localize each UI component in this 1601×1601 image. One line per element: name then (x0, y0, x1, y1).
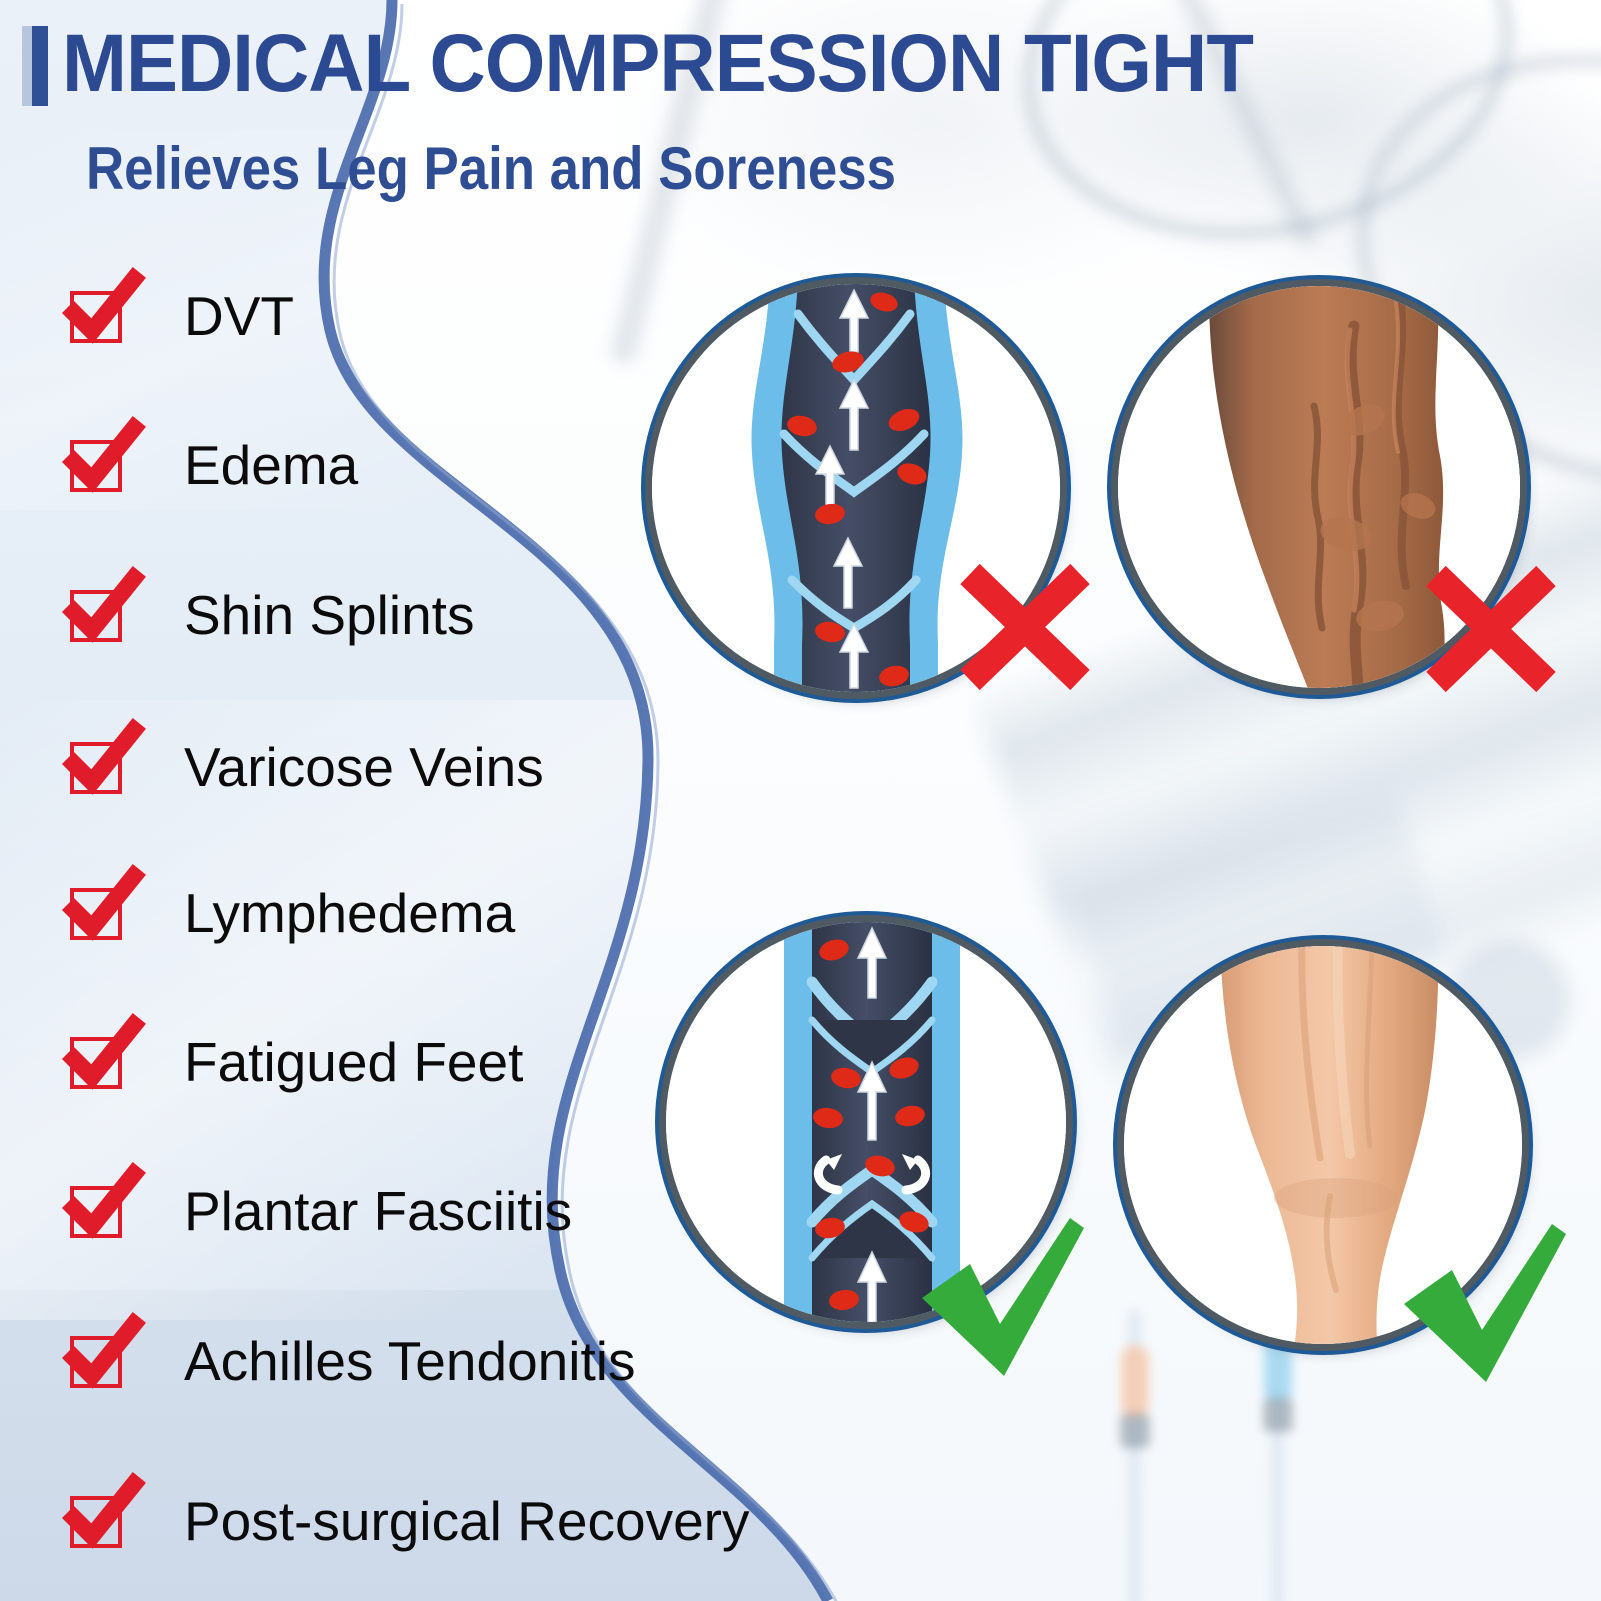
checkbox-checked-icon (66, 1490, 128, 1552)
list-item-label: Plantar Fasciitis (184, 1182, 572, 1240)
list-item-label: DVT (184, 287, 294, 345)
list-item: Achilles Tendonitis (66, 1330, 635, 1392)
list-item-label: Post-surgical Recovery (184, 1492, 749, 1550)
checkbox-checked-icon (66, 1330, 128, 1392)
checkbox-checked-icon (66, 584, 128, 646)
list-item-label: Fatigued Feet (184, 1033, 523, 1091)
list-item-label: Shin Splints (184, 586, 474, 644)
cross-mark-icon (1416, 562, 1566, 712)
infographic-canvas: MEDICAL COMPRESSION TIGHT Relieves Leg P… (0, 0, 1601, 1601)
list-item: Fatigued Feet (66, 1031, 523, 1093)
list-item-label: Achilles Tendonitis (184, 1332, 635, 1390)
list-item: Edema (66, 434, 358, 496)
list-item: Varicose Veins (66, 736, 544, 798)
checkbox-checked-icon (66, 285, 128, 347)
list-item: Lymphedema (66, 882, 515, 944)
list-item: Shin Splints (66, 584, 474, 646)
cross-mark-icon (950, 560, 1100, 710)
list-item-label: Varicose Veins (184, 738, 544, 796)
list-item: Plantar Fasciitis (66, 1180, 572, 1242)
list-item: Post-surgical Recovery (66, 1490, 749, 1552)
list-item-label: Lymphedema (184, 884, 515, 942)
checkbox-checked-icon (66, 1031, 128, 1093)
checkbox-checked-icon (66, 736, 128, 798)
list-item-label: Edema (184, 436, 358, 494)
checkbox-checked-icon (66, 1180, 128, 1242)
list-item: DVT (66, 285, 294, 347)
checkbox-checked-icon (66, 882, 128, 944)
checkbox-checked-icon (66, 434, 128, 496)
benefits-checklist: DVT Edema Shin Splints Varicose Veins (0, 0, 900, 1601)
check-mark-icon (1390, 1218, 1575, 1398)
check-mark-icon (908, 1212, 1093, 1392)
